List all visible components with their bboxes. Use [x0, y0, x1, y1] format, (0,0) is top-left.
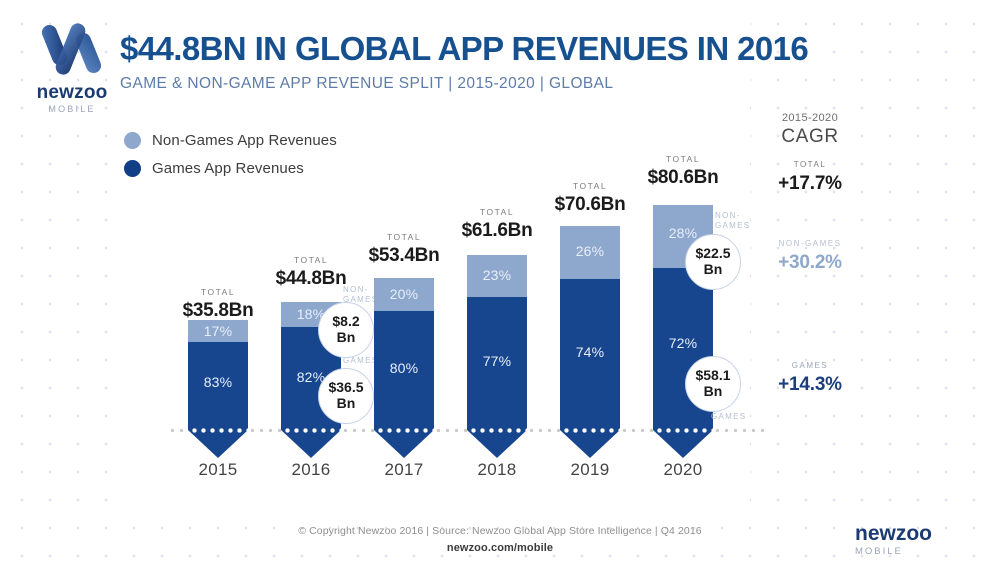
callout-value-line2: Bn	[704, 384, 723, 400]
total-caption: TOTAL	[148, 288, 288, 297]
pct-games-2015: 83%	[188, 374, 248, 390]
segment-non-games-2015: 17%	[188, 320, 248, 342]
pct-games-2020: 72%	[653, 335, 713, 351]
footer-source: © Copyright Newzoo 2016 | Source: Newzoo…	[0, 524, 1000, 540]
newzoo-logo-footer: newzoo MOBILE	[855, 523, 965, 557]
segment-games-2018: 77%	[467, 297, 527, 430]
total-value-2015: $35.8Bn	[148, 301, 288, 320]
callout-value-line1: $8.2	[332, 314, 359, 330]
segment-games-2015: 83%	[188, 342, 248, 430]
callout-value-line2: Bn	[337, 396, 356, 412]
total-value-2019: $70.6Bn	[520, 195, 660, 214]
cagr-title: CAGR	[740, 125, 880, 150]
bar-total-2020: TOTAL $80.6Bn	[613, 155, 753, 187]
callout-non-games-2020: $22.5 Bn	[685, 234, 741, 290]
total-value-2020: $80.6Bn	[613, 168, 753, 187]
bar-tip-2017	[374, 430, 434, 458]
cagr-games: GAMES +14.3%	[740, 362, 880, 394]
bar-tip-2016	[281, 430, 341, 458]
segment-non-games-2017: 20%	[374, 278, 434, 311]
cagr-non-games-label: NON-GAMES	[740, 240, 880, 248]
side-label-non-games-2020: NON- GAMES	[715, 211, 761, 231]
chart-baseline	[168, 428, 768, 433]
cagr-total-value: +17.7%	[740, 174, 880, 193]
segment-games-2017: 80%	[374, 311, 434, 430]
pct-games-2017: 80%	[374, 360, 434, 376]
cagr-non-games-value: +30.2%	[740, 253, 880, 272]
stacked-bar-chart: TOTAL $35.8Bn 17% 83% 2015 TOTAL $44.8Bn…	[0, 0, 1000, 565]
pct-non-games-2015: 17%	[188, 323, 248, 339]
cagr-games-value: +14.3%	[740, 375, 880, 394]
bar-tip-2018	[467, 430, 527, 458]
total-caption: TOTAL	[613, 155, 753, 164]
callout-games-2020: $58.1 Bn	[685, 356, 741, 412]
pct-non-games-2017: 20%	[374, 286, 434, 302]
segment-non-games-2019: 26%	[560, 226, 620, 279]
pct-games-2019: 74%	[560, 344, 620, 360]
x-label-2020: 2020	[613, 460, 753, 480]
segment-games-2019: 74%	[560, 279, 620, 430]
total-value-2018: $61.6Bn	[427, 221, 567, 240]
callout-value-line1: $36.5	[328, 380, 363, 396]
newzoo-mobile-sub-footer: MOBILE	[855, 547, 965, 557]
callout-value-line1: $58.1	[695, 368, 730, 384]
total-value-2017: $53.4Bn	[334, 246, 474, 265]
cagr-total: TOTAL +17.7%	[740, 161, 880, 193]
callout-value-line1: $22.5	[695, 246, 730, 262]
pct-non-games-2019: 26%	[560, 243, 620, 259]
side-label-games-2020: GAMES	[711, 412, 757, 422]
callout-non-games-2016: $8.2 Bn	[318, 302, 374, 358]
bar-tip-2015	[188, 430, 248, 458]
pct-games-2018: 77%	[467, 353, 527, 369]
bar-total-2015: TOTAL $35.8Bn	[148, 288, 288, 320]
bar-total-2019: TOTAL $70.6Bn	[520, 182, 660, 214]
cagr-panel: 2015-2020 CAGR	[740, 112, 880, 150]
footer-url[interactable]: newzoo.com/mobile	[0, 540, 1000, 558]
newzoo-wordmark-footer: newzoo	[855, 523, 965, 544]
cagr-total-label: TOTAL	[740, 161, 880, 169]
cagr-non-games: NON-GAMES +30.2%	[740, 240, 880, 272]
bar-tip-2019	[560, 430, 620, 458]
cagr-games-label: GAMES	[740, 362, 880, 370]
pct-non-games-2018: 23%	[467, 267, 527, 283]
callout-games-2016: $36.5 Bn	[318, 368, 374, 424]
footer: © Copyright Newzoo 2016 | Source: Newzoo…	[0, 524, 1000, 557]
cagr-years: 2015-2020	[740, 112, 880, 125]
callout-value-line2: Bn	[704, 262, 723, 278]
callout-value-line2: Bn	[337, 330, 356, 346]
segment-non-games-2018: 23%	[467, 255, 527, 297]
bar-tip-2020	[653, 430, 713, 458]
